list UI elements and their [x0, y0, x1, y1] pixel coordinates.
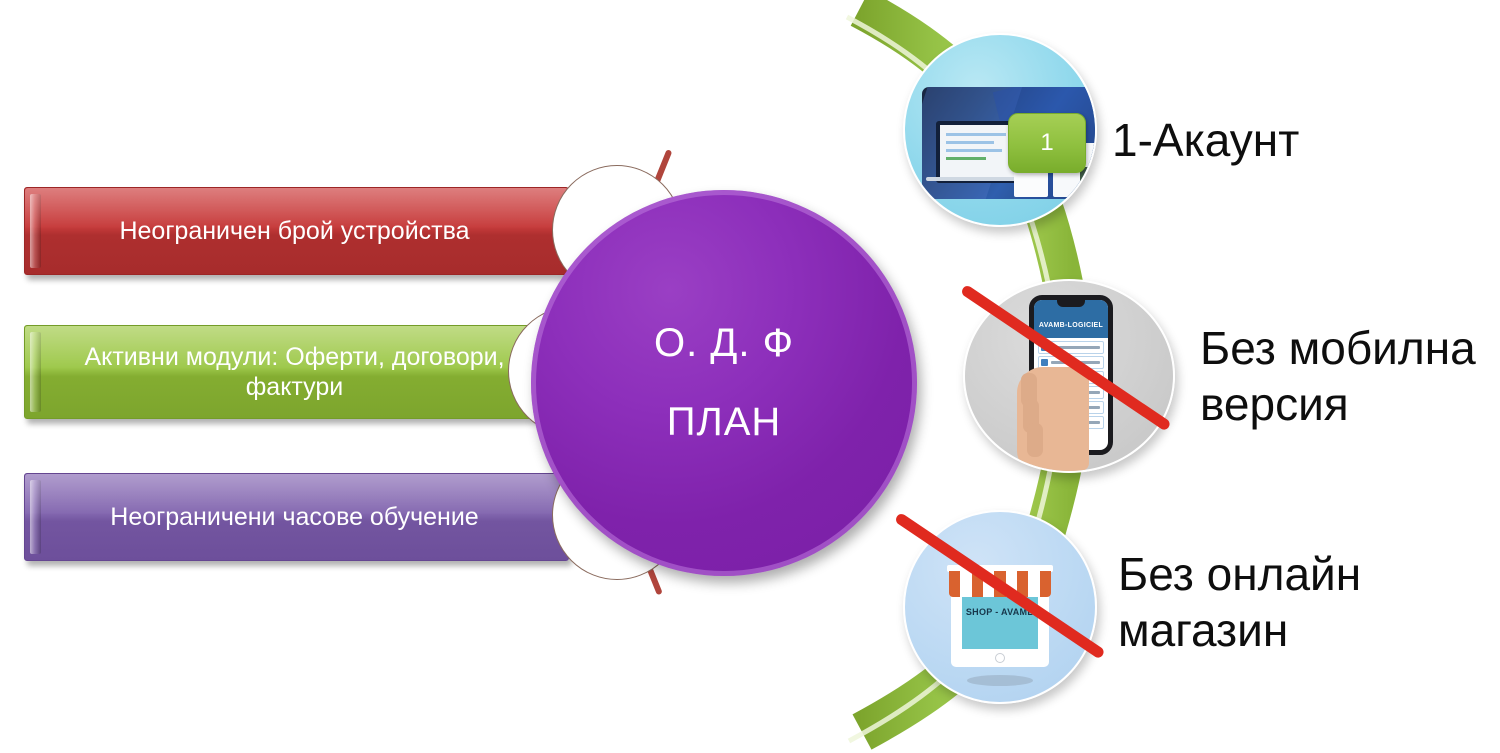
feature-bar-modules[interactable]: Активни модули: Оферти, договори, фактур… [24, 325, 569, 419]
slide-canvas: Неограничен брой устройства Активни моду… [0, 0, 1500, 753]
node-shop-label: Без онлайн магазин [1118, 546, 1448, 658]
account-count-badge: 1 [1008, 113, 1086, 173]
feature-bar-training-label: Неограничени часове обучение [55, 502, 534, 532]
feature-bar-devices[interactable]: Неограничен брой устройства [24, 187, 569, 275]
feature-bar-modules-label: Активни модули: Оферти, договори, фактур… [55, 342, 534, 402]
phone-brand-label: AVAMB-LOGICIEL [1034, 322, 1108, 329]
node-account-circle[interactable]: 1 [903, 33, 1097, 227]
feature-bar-training[interactable]: Неограничени часове обучение [24, 473, 569, 561]
node-mobile-label: Без мобилна версия [1200, 320, 1500, 432]
devices-screens-icon: 1 [922, 87, 1097, 199]
feature-bar-devices-label: Неограничен брой устройства [55, 216, 534, 246]
node-account-label: 1-Акаунт [1112, 112, 1482, 168]
account-count-value: 1 [1040, 129, 1053, 157]
hub-title-line-1: О. Д. Ф [654, 321, 794, 366]
central-plan-circle[interactable]: О. Д. Ф ПЛАН [531, 190, 917, 576]
hub-title-line-2: ПЛАН [667, 400, 782, 445]
